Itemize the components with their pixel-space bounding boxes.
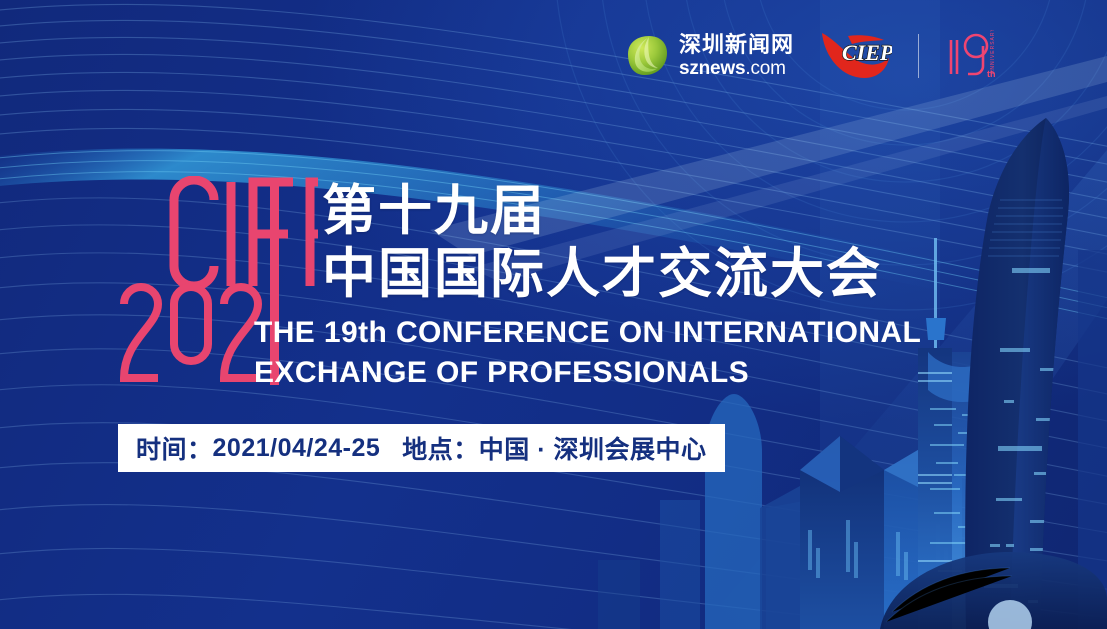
nineteenth-anniversary-icon: th ANNIVERSARY bbox=[945, 30, 1001, 82]
ciep-logo[interactable]: CIEP bbox=[818, 30, 892, 82]
time-label: 时间： bbox=[136, 430, 213, 466]
headline-chinese-line2: 中国国际人才交流大会 bbox=[322, 243, 882, 306]
event-info-bar: 时间： 2021/04/24-25 地点： 中国 · 深圳会展中心 bbox=[118, 424, 725, 472]
anniversary-vertical-text: ANNIVERSARY bbox=[990, 30, 996, 74]
anniversary-logo[interactable]: th ANNIVERSARY bbox=[945, 30, 1001, 82]
place-value: 中国 · 深圳会展中心 bbox=[479, 430, 707, 466]
ciep-wordmark: CIEP bbox=[842, 40, 892, 65]
red-swoosh-icon: CIEP bbox=[818, 30, 892, 82]
headline-english-line2: EXCHANGE OF PROFESSIONALS bbox=[254, 353, 921, 393]
sznews-word: sznews bbox=[679, 58, 745, 79]
sznews-name-en: sznews.com bbox=[679, 59, 794, 78]
time-value: 2021/04/24-25 bbox=[213, 434, 381, 463]
sznews-logo[interactable]: 深圳新闻网 sznews.com bbox=[624, 34, 794, 78]
logo-row: 深圳新闻网 sznews.com CIEP bbox=[624, 28, 1001, 84]
headline-chinese-line1: 第十九届 bbox=[322, 180, 882, 243]
headline-english-line1: THE 19th CONFERENCE ON INTERNATIONAL bbox=[254, 313, 921, 353]
headline-chinese: 第十九届 中国国际人才交流大会 bbox=[322, 180, 882, 306]
logo-divider bbox=[918, 34, 919, 78]
ciep-2021-poster: 第十九届 中国国际人才交流大会 THE 19th CONFERENCE ON I… bbox=[0, 0, 1107, 629]
green-leaf-icon bbox=[624, 34, 670, 78]
headline-english: THE 19th CONFERENCE ON INTERNATIONAL EXC… bbox=[254, 313, 921, 393]
sznews-name-cn: 深圳新闻网 bbox=[679, 34, 794, 56]
place-label: 地点： bbox=[402, 430, 479, 466]
sznews-domain-suffix: .com bbox=[745, 58, 785, 79]
